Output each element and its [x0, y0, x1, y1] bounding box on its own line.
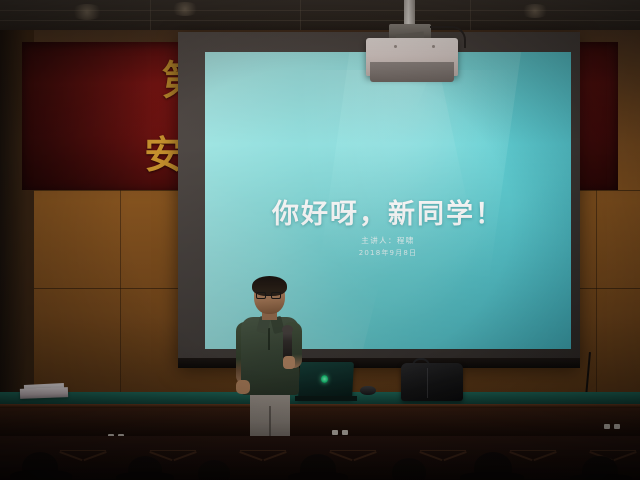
- presenter-person: [228, 278, 310, 446]
- rail-item-4: [614, 424, 620, 429]
- rail-item-3: [604, 424, 610, 429]
- papers: [20, 387, 68, 399]
- rail-item-1: [332, 430, 338, 435]
- mouse: [360, 386, 376, 395]
- audience-body-7: [570, 474, 632, 480]
- audience-body-1: [10, 470, 72, 480]
- audience-body-2: [116, 472, 174, 480]
- presenter-left-hand: [236, 380, 250, 394]
- slide-date: 2018年9月8日: [205, 248, 571, 258]
- photo-scene: 第十五届 科技 安徽省生物 员代 你好呀，新同学！ 主讲人：程啸 2018年9月…: [0, 0, 640, 480]
- audience-head-3: [198, 460, 230, 480]
- microphone-head: [282, 325, 293, 334]
- audience-body-4: [288, 472, 348, 480]
- bag-seam: [427, 368, 428, 398]
- presenter-right-hand: [283, 356, 295, 369]
- bag: [401, 363, 463, 401]
- audience-head-5: [392, 458, 426, 480]
- glasses-bridge-icon: [266, 295, 271, 296]
- ceiling: [0, 0, 640, 34]
- shirt-placket: [268, 328, 270, 350]
- glasses-left-lens-icon: [256, 292, 266, 299]
- projector-indicator-dot-2: [432, 45, 435, 48]
- slide-title: 你好呀，新同学！: [205, 192, 571, 231]
- audience-body-6: [460, 472, 524, 480]
- slide-presenter: 主讲人：程啸: [205, 235, 571, 246]
- projector-indicator-dot: [394, 45, 397, 48]
- rail-item-2: [342, 430, 348, 435]
- glasses-right-lens-icon: [271, 292, 281, 299]
- projector-lens-face: [370, 62, 454, 82]
- laptop-logo-icon: [321, 375, 328, 383]
